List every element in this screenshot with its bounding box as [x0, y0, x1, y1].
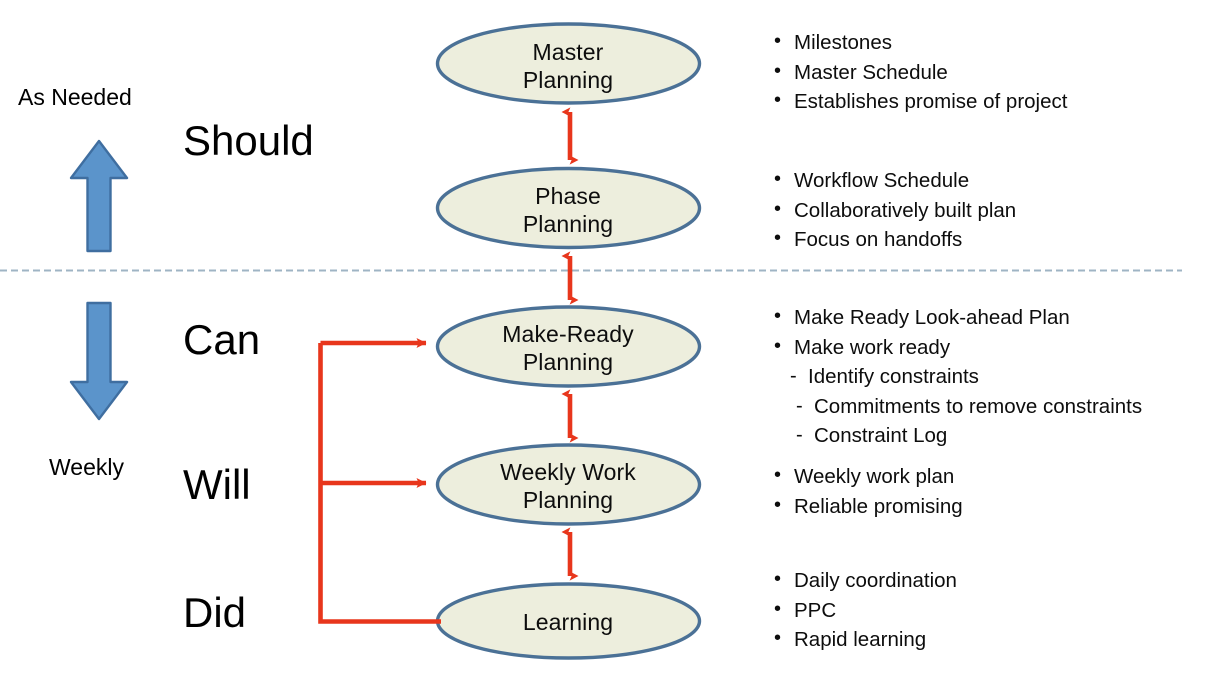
list-item: Daily coordination [772, 566, 1202, 596]
bullets-make-ready-planning: Make Ready Look-ahead Plan Make work rea… [772, 303, 1202, 451]
stage-word-can: Can [183, 317, 260, 363]
bullets-weekly-work-planning: Weekly work plan Reliable promising [772, 462, 1202, 521]
list-item: Constraint Log [772, 421, 1202, 451]
node-weekly-work-planning[interactable] [438, 445, 700, 524]
cadence-label-weekly: Weekly [49, 454, 124, 481]
node-learning[interactable] [438, 584, 700, 658]
list-item: Make work ready [772, 333, 1202, 363]
stage-word-did: Did [183, 590, 246, 636]
list-item: Establishes promise of project [772, 87, 1202, 117]
list-item: Weekly work plan [772, 462, 1202, 492]
list-item: Rapid learning [772, 625, 1202, 655]
bullets-learning: Daily coordination PPC Rapid learning [772, 566, 1202, 655]
list-item: Collaboratively built plan [772, 196, 1202, 226]
node-make-ready-planning[interactable] [438, 307, 700, 386]
stage-word-should: Should [183, 118, 314, 164]
list-item: Identify constraints [772, 362, 1202, 392]
list-item: Milestones [772, 28, 1202, 58]
list-item: Reliable promising [772, 492, 1202, 522]
list-item: Master Schedule [772, 58, 1202, 88]
list-item: Focus on handoffs [772, 225, 1202, 255]
list-item: Make Ready Look-ahead Plan [772, 303, 1202, 333]
cadence-label-as-needed: As Needed [18, 84, 132, 111]
list-item: Workflow Schedule [772, 166, 1202, 196]
bullets-phase-planning: Workflow Schedule Collaboratively built … [772, 166, 1202, 255]
list-item: PPC [772, 596, 1202, 626]
stage-word-will: Will [183, 462, 251, 508]
node-phase-planning[interactable] [438, 169, 700, 248]
diagram-canvas: Master Planning Phase Planning Make-Read… [0, 0, 1217, 675]
node-master-planning[interactable] [438, 24, 700, 103]
blue-down-arrow [71, 303, 127, 419]
bullets-master-planning: Milestones Master Schedule Establishes p… [772, 28, 1202, 117]
list-item: Commitments to remove constraints [772, 392, 1202, 422]
blue-up-arrow [71, 141, 127, 251]
